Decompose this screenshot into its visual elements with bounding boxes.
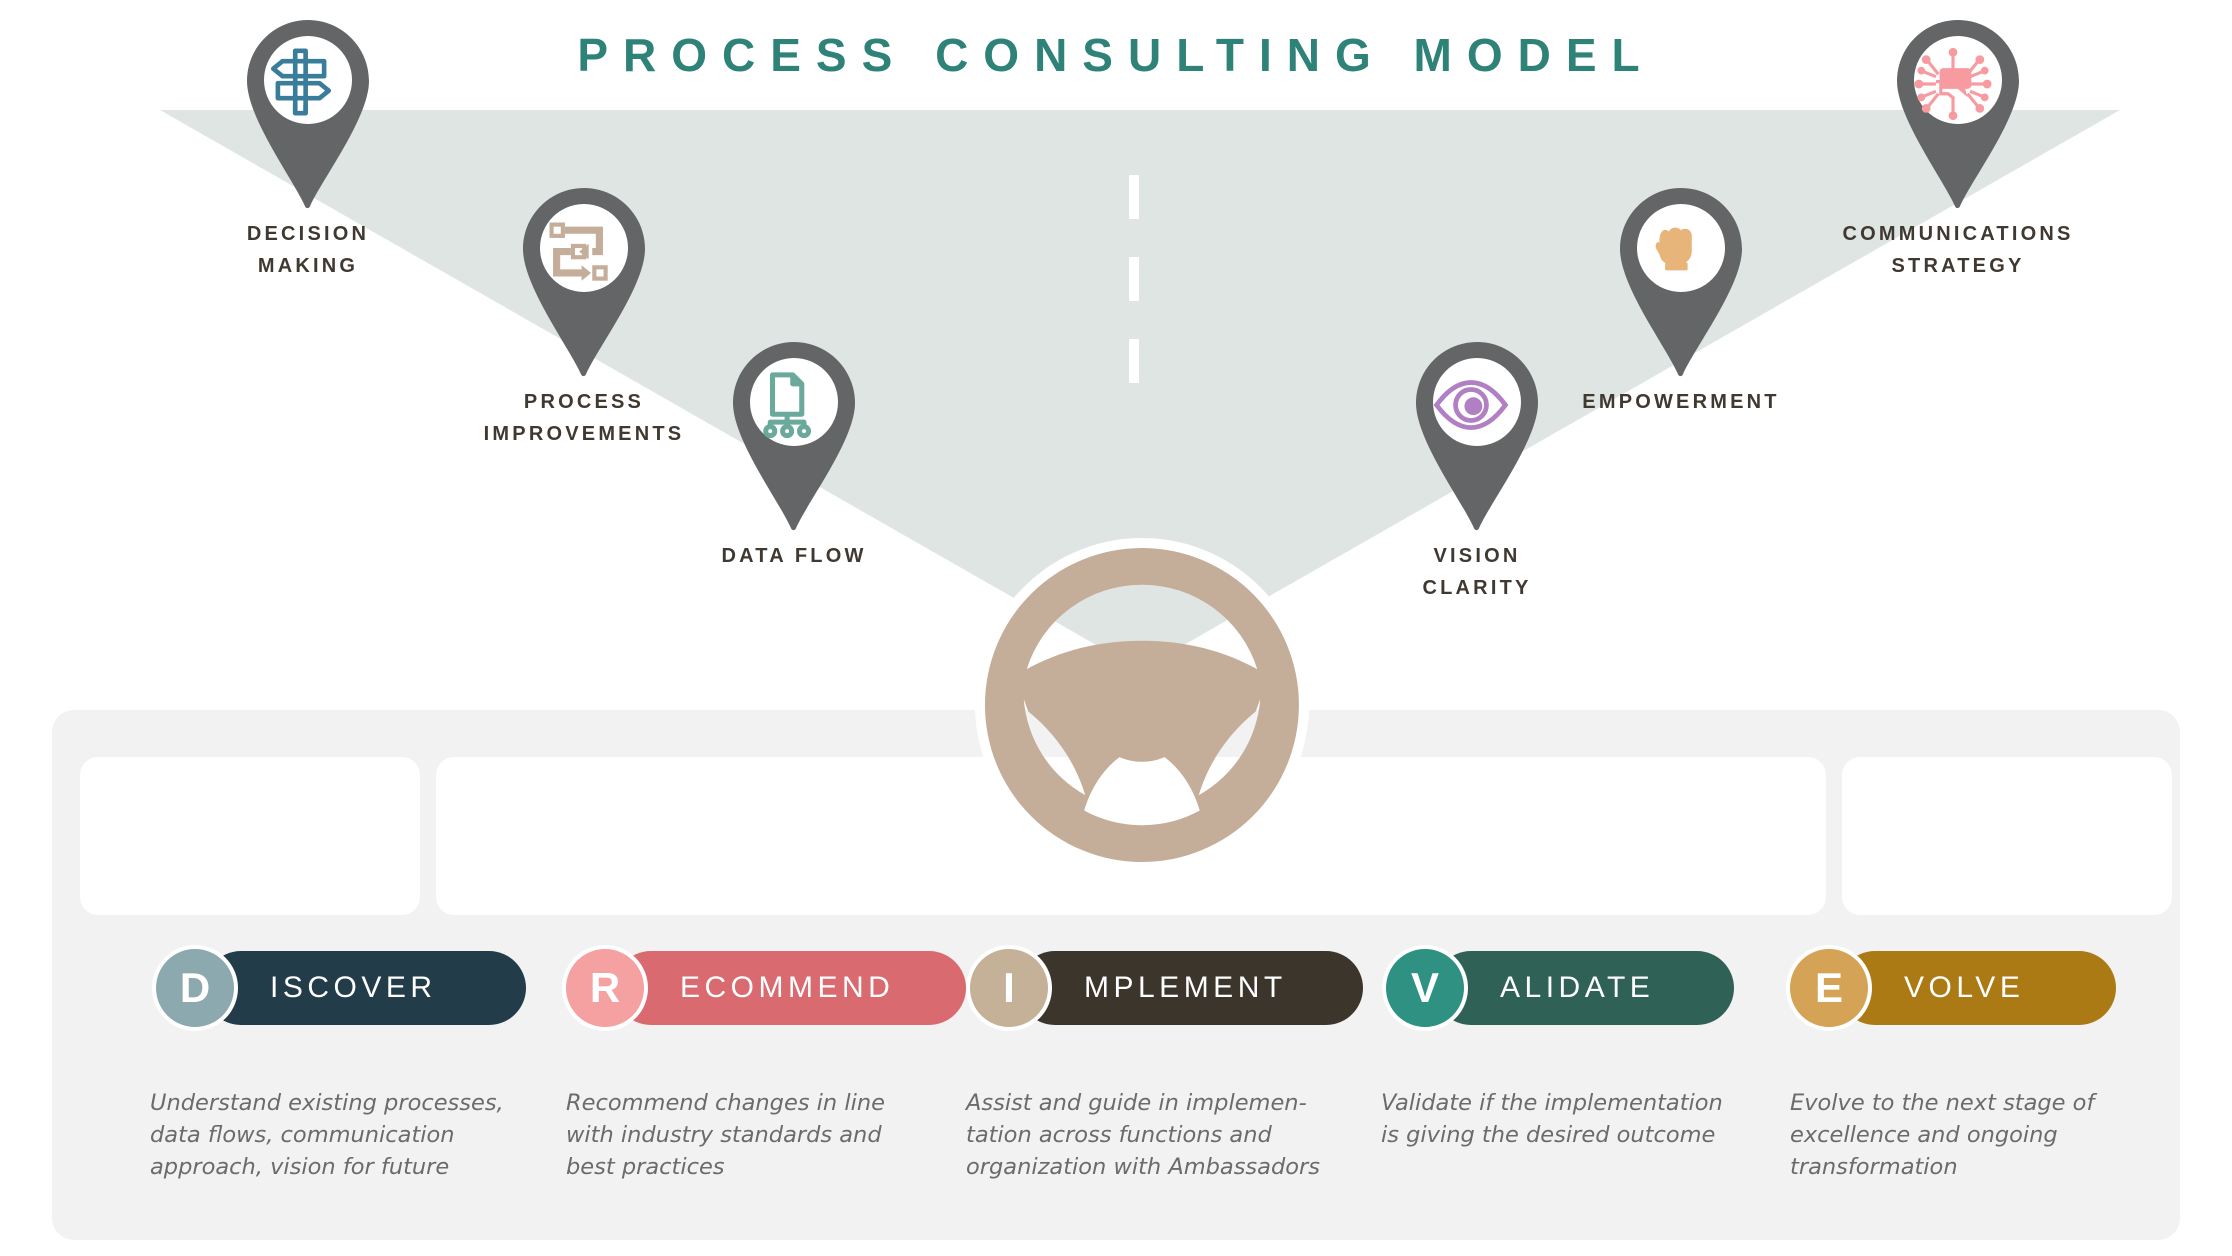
stage-initial-implement[interactable]: I [966,945,1052,1031]
stage-pill-bar-recommend[interactable]: ECOMMEND [614,951,966,1025]
stage-pill-evolve[interactable]: VOLVEE [1786,945,2116,1031]
pin-shape [510,186,658,382]
stage-description-validate: Validate if the implementation is giving… [1381,1088,1723,1152]
dashed-divider [1129,175,1139,421]
speech-network-icon [1914,45,2002,133]
pin-label-vision-clarity: VISIONCLARITY [1422,540,1531,604]
map-pin-communications-strategy[interactable]: COMMUNICATIONSSTRATEGY [1884,18,2032,214]
signpost-icon [264,45,352,133]
stage-pill-bar-implement[interactable]: MPLEMENT [1018,951,1363,1025]
stage-pill-label-validate: ALIDATE [1500,971,1654,1005]
stage-pill-validate[interactable]: ALIDATEV [1382,945,1734,1031]
infographic-canvas: PROCESS CONSULTING MODEL DECISIONMAKING [0,0,2232,1256]
drive-stage-row: ISCOVERDECOMMENDRMPLEMENTIALIDATEVVOLVEE [0,945,2232,1055]
stage-description-discover: Understand existing processes, data flow… [150,1088,504,1184]
stage-pill-discover[interactable]: ISCOVERD [152,945,526,1031]
pin-shape [234,18,382,214]
stage-initial-evolve[interactable]: E [1786,945,1872,1031]
pin-label-data-flow: DATA FLOW [721,540,866,572]
pin-shape [720,340,868,536]
stage-pill-label-evolve: VOLVE [1904,971,2024,1005]
map-pin-process-improvements[interactable]: PROCESSIMPROVEMENTS [510,186,658,382]
panel-white-card [1842,757,2172,915]
raised-fist-icon [1637,213,1725,301]
stage-pill-bar-evolve[interactable]: VOLVE [1838,951,2116,1025]
divider-dash [1129,257,1139,301]
map-pin-decision-making[interactable]: DECISIONMAKING [234,18,382,214]
pin-label-communications-strategy: COMMUNICATIONSSTRATEGY [1842,218,2073,282]
pin-shape [1884,18,2032,214]
stage-description-evolve: Evolve to the next stage of excellence a… [1790,1088,2094,1184]
document-nodes-icon [750,367,838,455]
map-pin-empowerment[interactable]: EMPOWERMENT [1607,186,1755,382]
pin-shape [1607,186,1755,382]
panel-white-card [80,757,420,915]
stage-pill-recommend[interactable]: ECOMMENDR [562,945,966,1031]
stage-pill-bar-discover[interactable]: ISCOVER [204,951,526,1025]
pin-label-empowerment: EMPOWERMENT [1582,386,1779,418]
divider-dash [1129,175,1139,219]
map-pin-data-flow[interactable]: DATA FLOW [720,340,868,536]
stage-initial-recommend[interactable]: R [562,945,648,1031]
stage-pill-label-implement: MPLEMENT [1084,971,1287,1005]
eye-icon [1433,367,1521,455]
pin-label-process-improvements: PROCESSIMPROVEMENTS [484,386,685,450]
stage-initial-validate[interactable]: V [1382,945,1468,1031]
pin-shape [1403,340,1551,536]
map-pin-vision-clarity[interactable]: VISIONCLARITY [1403,340,1551,536]
stage-description-recommend: Recommend changes in line with industry … [566,1088,885,1184]
stage-pill-implement[interactable]: MPLEMENTI [966,945,1363,1031]
divider-dash [1129,339,1139,383]
steering-wheel-icon [975,538,1309,872]
pin-label-decision-making: DECISIONMAKING [247,218,369,282]
stage-description-implement: Assist and guide in implemen- tation acr… [966,1088,1320,1184]
stage-pill-label-discover: ISCOVER [270,971,437,1005]
stage-pill-label-recommend: ECOMMEND [680,971,894,1005]
stage-pill-bar-validate[interactable]: ALIDATE [1434,951,1734,1025]
stage-initial-discover[interactable]: D [152,945,238,1031]
flowchart-icon [540,213,628,301]
